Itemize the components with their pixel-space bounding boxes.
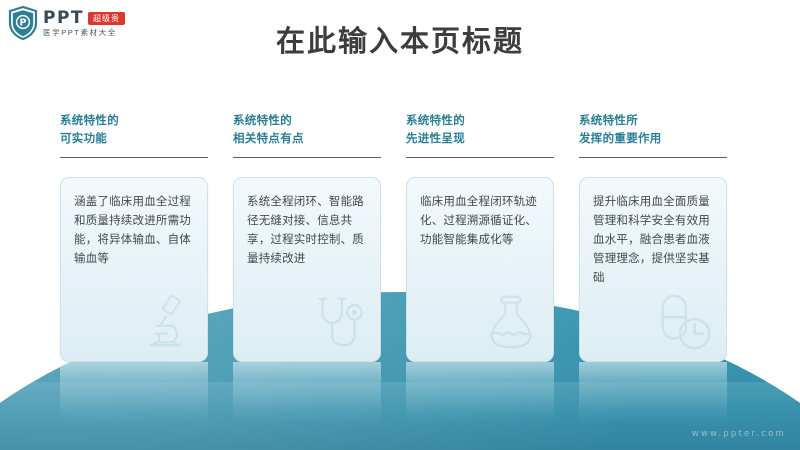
page-title: 在此输入本页标题 (0, 18, 800, 60)
column-divider-3 (406, 157, 554, 158)
feature-card-4-body: 提升临床用血全面质量管理和科学安全有效用血水平，融合患者血液管理理念，提供坚实基… (593, 192, 715, 287)
column-heading-1-line1: 系统特性的 (60, 112, 208, 130)
column-heading-2-line2: 相关特点有点 (233, 130, 381, 148)
column-heading-1-line2: 可实功能 (60, 130, 208, 148)
pill-clock-icon (653, 291, 715, 353)
flask-icon (480, 291, 542, 353)
feature-card-3[interactable]: 临床用血全程闭环轨迹化、过程溯源循证化、功能智能集成化等 (406, 177, 554, 362)
column-heading-2: 系统特性的 相关特点有点 (233, 112, 381, 148)
column-heading-1: 系统特性的 可实功能 (60, 112, 208, 148)
microscope-icon (134, 291, 196, 353)
feature-card-2-reflection (233, 362, 381, 424)
column-heading-4: 系统特性所 发挥的重要作用 (579, 112, 727, 148)
feature-card-4[interactable]: 提升临床用血全面质量管理和科学安全有效用血水平，融合患者血液管理理念，提供坚实基… (579, 177, 727, 362)
column-divider-4 (579, 157, 727, 158)
column-heading-3: 系统特性的 先进性呈现 (406, 112, 554, 148)
feature-card-1-body: 涵盖了临床用血全过程和质量持续改进所需功能，将异体输血、自体输血等 (74, 192, 196, 268)
feature-card-3-reflection (406, 362, 554, 424)
column-heading-3-line2: 先进性呈现 (406, 130, 554, 148)
column-heading-3-line1: 系统特性的 (406, 112, 554, 130)
column-heading-4-line1: 系统特性所 (579, 112, 727, 130)
column-divider-1 (60, 157, 208, 158)
feature-card-2[interactable]: 系统全程闭环、智能路径无缝对接、信息共享，过程实时控制、质量持续改进 (233, 177, 381, 362)
feature-columns: 系统特性的 可实功能 涵盖了临床用血全过程和质量持续改进所需功能，将异体输血、自… (60, 112, 750, 424)
slide-canvas: P PPT 超级贵 医学PPT素材大全 在此输入本页标题 系统特性的 可实功能 … (0, 0, 800, 450)
feature-column-1: 系统特性的 可实功能 涵盖了临床用血全过程和质量持续改进所需功能，将异体输血、自… (60, 112, 208, 424)
feature-card-2-body: 系统全程闭环、智能路径无缝对接、信息共享，过程实时控制、质量持续改进 (247, 192, 369, 268)
feature-column-3: 系统特性的 先进性呈现 临床用血全程闭环轨迹化、过程溯源循证化、功能智能集成化等 (406, 112, 554, 424)
feature-column-4: 系统特性所 发挥的重要作用 提升临床用血全面质量管理和科学安全有效用血水平，融合… (579, 112, 727, 424)
column-divider-2 (233, 157, 381, 158)
feature-card-1[interactable]: 涵盖了临床用血全过程和质量持续改进所需功能，将异体输血、自体输血等 (60, 177, 208, 362)
feature-card-4-reflection (579, 362, 727, 424)
feature-column-2: 系统特性的 相关特点有点 系统全程闭环、智能路径无缝对接、信息共享，过程实时控制… (233, 112, 381, 424)
column-heading-2-line1: 系统特性的 (233, 112, 381, 130)
column-heading-4-line2: 发挥的重要作用 (579, 130, 727, 148)
feature-card-1-reflection (60, 362, 208, 424)
feature-card-3-body: 临床用血全程闭环轨迹化、过程溯源循证化、功能智能集成化等 (420, 192, 542, 249)
site-watermark: www.ppter.com (692, 429, 786, 439)
stethoscope-icon (307, 291, 369, 353)
